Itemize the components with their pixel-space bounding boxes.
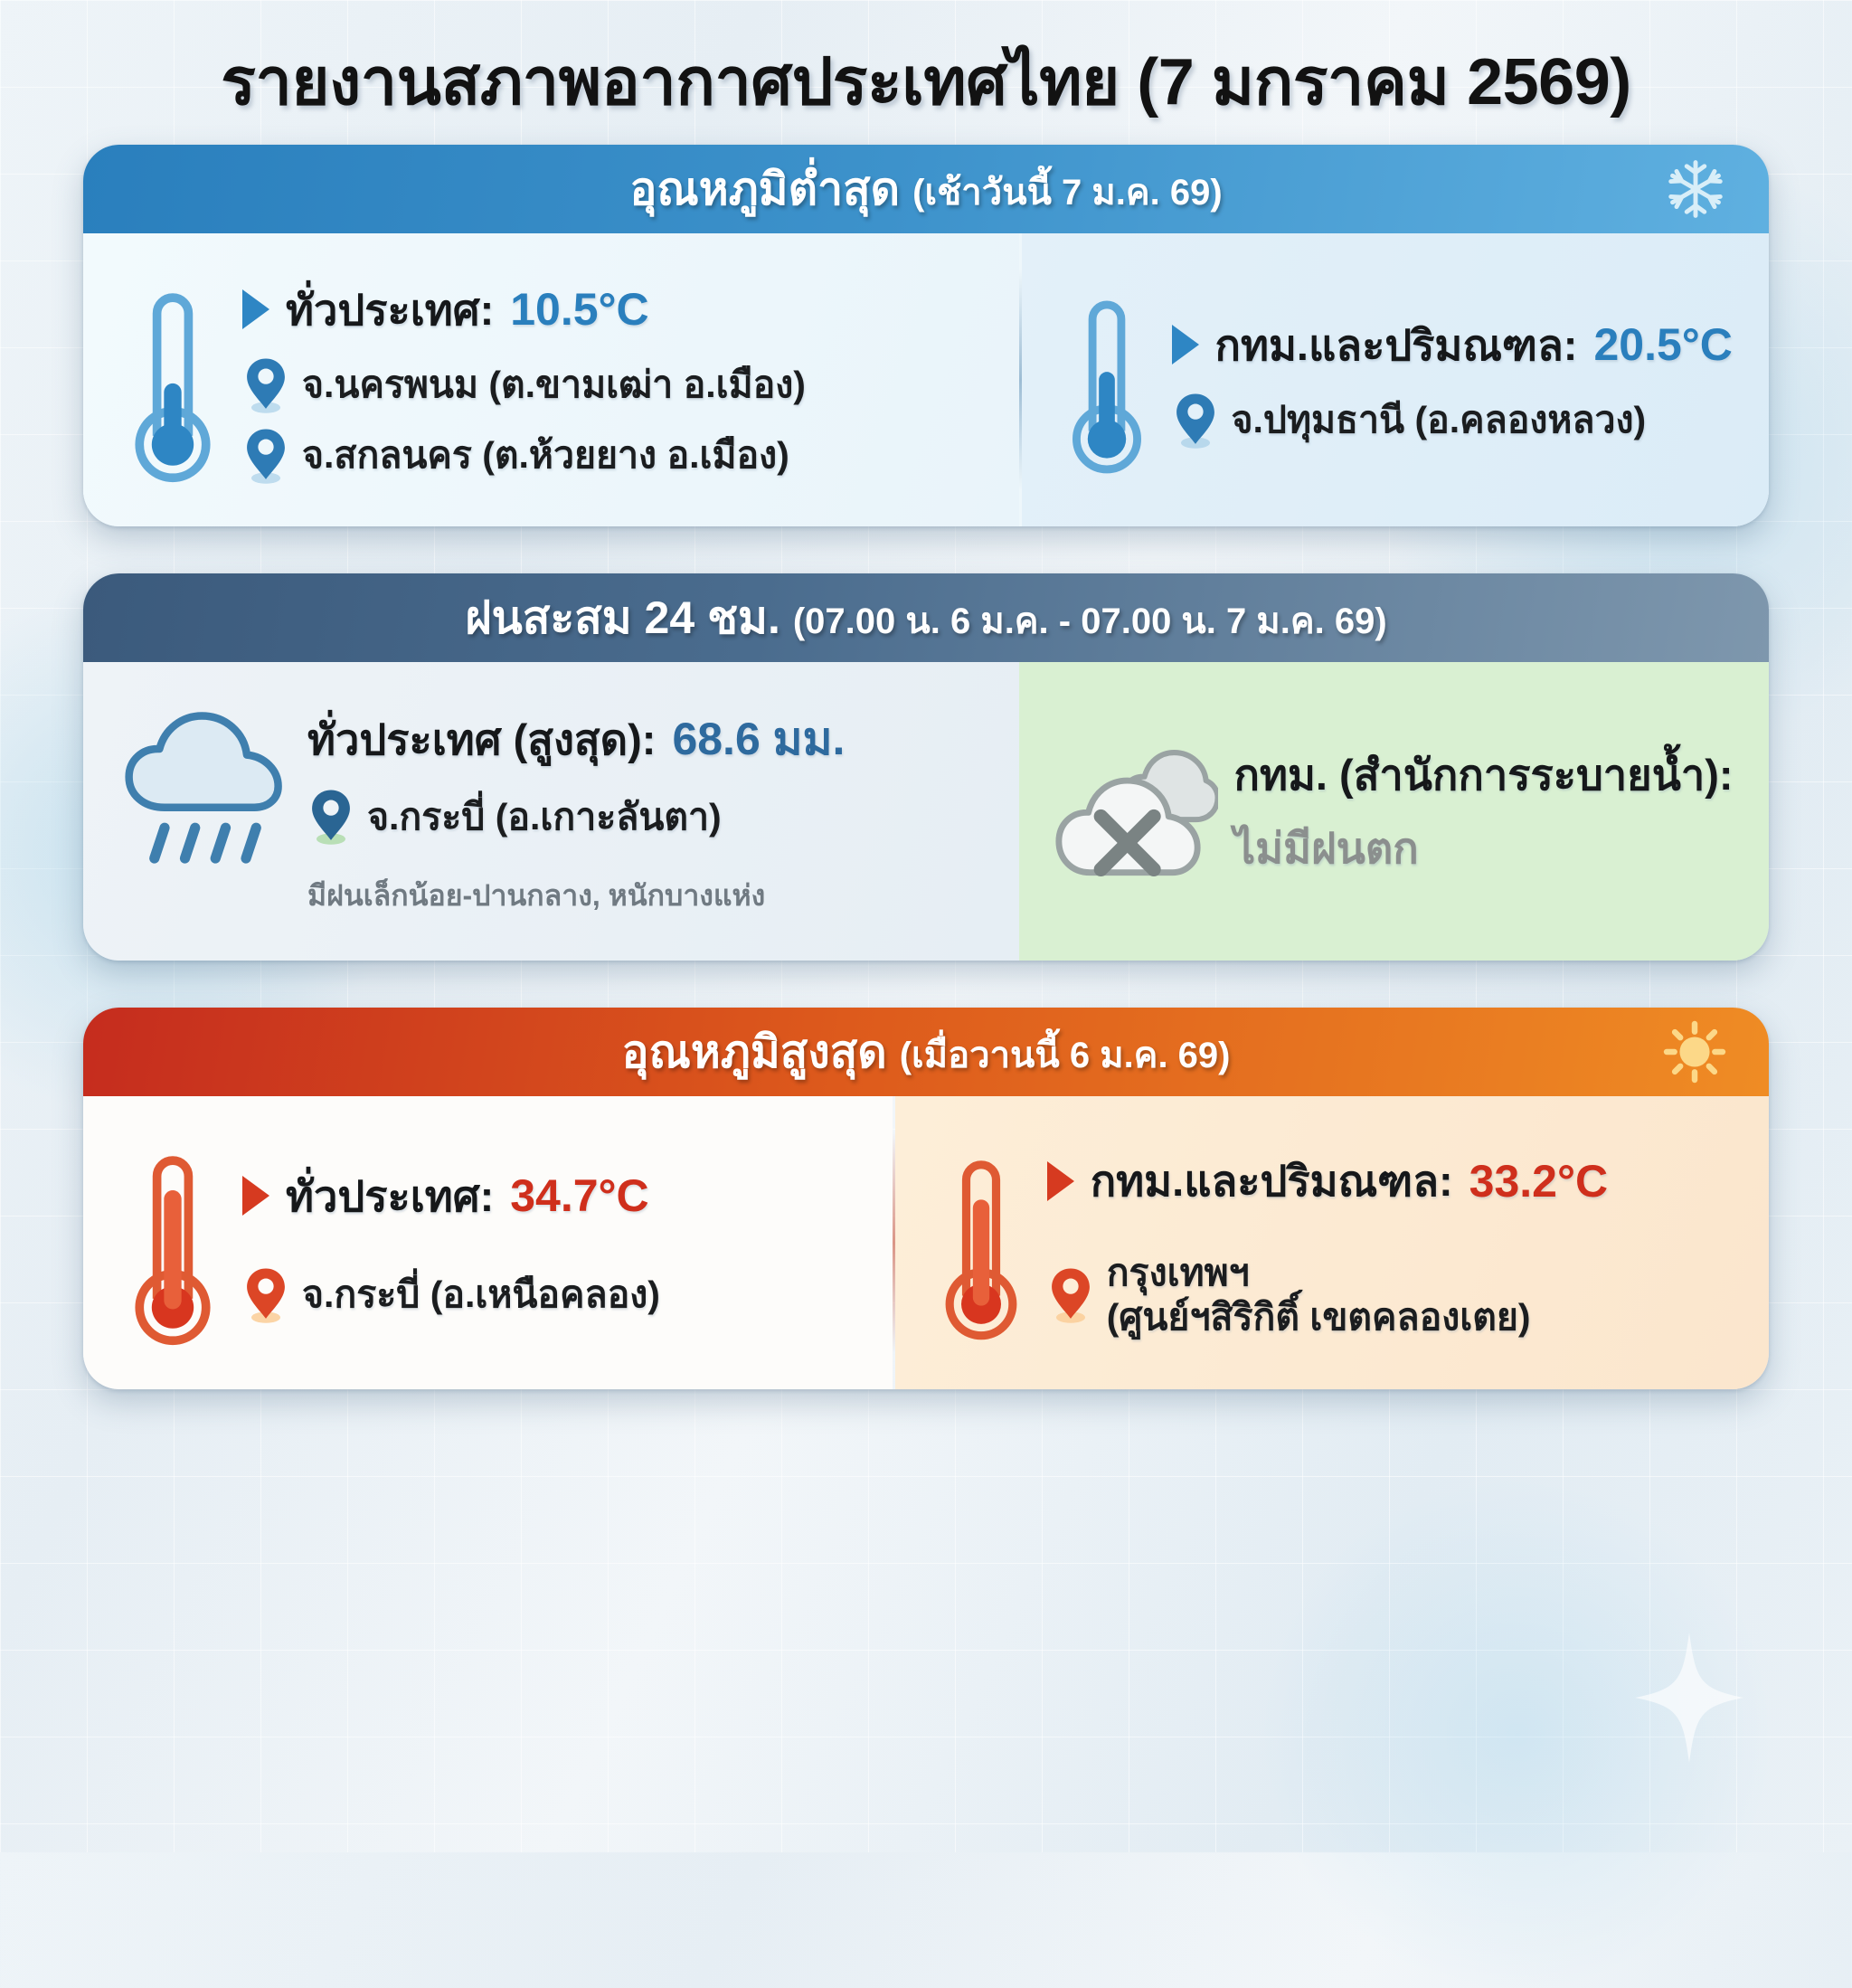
infographic-page: รายงานสภาพอากาศประเทศไทย (7 มกราคม 2569)… <box>0 0 1852 1852</box>
card-rain-header-sub: (07.00 น. 6 ม.ค. - 07.00 น. 7 ม.ค. 69) <box>793 603 1387 639</box>
min-bangkok-location-1-text: จ.ปทุมธานี (อ.คลองหลวง) <box>1232 398 1647 441</box>
rain-cloud-icon <box>119 709 291 872</box>
rain-bangkok-rows: กทม. (สำนักการระบายน้ำ): ไม่มีฝนตก <box>1234 741 1734 882</box>
panel-max-nationwide: ทั่วประเทศ: 34.7°C จ.กระบี่ (อ.เหนือคลอง… <box>83 1096 893 1389</box>
map-pin-icon <box>1047 1266 1094 1324</box>
rain-nationwide-note: มีฝนเล็กน้อย-ปานกลาง, หนักบางแห่ง <box>307 873 845 919</box>
snowflake-icon <box>1664 157 1727 221</box>
min-bangkok-value: 20.5°C <box>1593 318 1732 371</box>
max-bangkok-location-1: กรุงเทพฯ (ศูนย์ฯสิริกิติ์ เขตคลองเตย) <box>1047 1251 1608 1339</box>
map-pin-icon <box>242 427 289 485</box>
max-bangkok-label: กทม.และปริมณฑล: <box>1091 1147 1453 1215</box>
max-nationwide-value: 34.7°C <box>510 1169 648 1222</box>
max-nationwide-rows: ทั่วประเทศ: 34.7°C จ.กระบี่ (อ.เหนือคลอง… <box>242 1162 660 1324</box>
thermometer-hot-icon <box>931 1143 1031 1342</box>
rain-nationwide-location-1-text: จ.กระบี่ (อ.เกาะลันตา) <box>367 795 722 838</box>
card-rain-accumulation: ฝนสะสม 24 ชม. (07.00 น. 6 ม.ค. - 07.00 น… <box>83 573 1769 961</box>
min-nationwide-location-1-text: จ.นครพนม (ต.ขามเฒ่า อ.เมือง) <box>302 363 806 406</box>
max-nationwide-label: ทั่วประเทศ: <box>286 1162 494 1230</box>
min-nationwide-location-1: จ.นครพนม (ต.ขามเฒ่า อ.เมือง) <box>242 356 806 414</box>
page-title: รายงานสภาพอากาศประเทศไทย (7 มกราคม 2569) <box>83 0 1769 123</box>
card-min-header: อุณหภูมิต่ำสุด (เช้าวันนี้ 7 ม.ค. 69) <box>83 145 1769 233</box>
card-max-header-main: อุณหภูมิสูงสุด <box>622 1029 887 1074</box>
card-rain-header: ฝนสะสม 24 ชม. (07.00 น. 6 ม.ค. - 07.00 น… <box>83 573 1769 662</box>
triangle-left-icon <box>242 1176 269 1216</box>
map-pin-icon <box>1172 392 1219 450</box>
max-bangkok-location-2-text: (ศูนย์ฯสิริกิติ์ เขตคลองเตย) <box>1107 1295 1531 1339</box>
card-max-temperature: อุณหภูมิสูงสุด (เมื่อวานนี้ 6 ม.ค. 69) <box>83 1008 1769 1389</box>
thermometer-cold-icon <box>119 275 226 485</box>
card-max-header: อุณหภูมิสูงสุด (เมื่อวานนี้ 6 ม.ค. 69) <box>83 1008 1769 1096</box>
map-pin-icon <box>242 356 289 414</box>
panel-max-bangkok: กทม.และปริมณฑล: 33.2°C กรุงเทพฯ (ศูนย์ฯส… <box>895 1096 1769 1389</box>
card-max-header-sub: (เมื่อวานนี้ 6 ม.ค. 69) <box>900 1037 1231 1074</box>
rain-nationwide-rows: ทั่วประเทศ (สูงสุด): 68.6 มม. จ.กระบี่ (… <box>307 704 845 919</box>
panel-rain-nationwide: ทั่วประเทศ (สูงสุด): 68.6 มม. จ.กระบี่ (… <box>83 662 1019 961</box>
card-max-body: ทั่วประเทศ: 34.7°C จ.กระบี่ (อ.เหนือคลอง… <box>83 1096 1769 1389</box>
min-bangkok-main: กทม.และปริมณฑล: 20.5°C <box>1172 311 1733 379</box>
rain-bangkok-value: ไม่มีฝนตก <box>1234 814 1734 882</box>
card-min-header-sub: (เช้าวันนี้ 7 ม.ค. 69) <box>912 175 1223 211</box>
min-nationwide-location-2-text: จ.สกลนคร (ต.ห้วยยาง อ.เมือง) <box>302 433 789 477</box>
max-bangkok-value: 33.2°C <box>1469 1155 1608 1207</box>
min-bangkok-rows: กทม.และปริมณฑล: 20.5°C จ.ปทุมธานี (อ.คลอ… <box>1172 311 1733 450</box>
max-nationwide-location-1: จ.กระบี่ (อ.เหนือคลอง) <box>242 1266 660 1324</box>
card-max-header-text: อุณหภูมิสูงสุด (เมื่อวานนี้ 6 ม.ค. 69) <box>622 1029 1231 1074</box>
thermometer-hot-icon <box>119 1138 226 1348</box>
rain-nationwide-location-1: จ.กระบี่ (อ.เกาะลันตา) <box>307 788 845 846</box>
triangle-left-icon <box>242 289 269 329</box>
card-min-header-text: อุณหภูมิต่ำสุด (เช้าวันนี้ 7 ม.ค. 69) <box>629 166 1222 212</box>
card-min-body: ทั่วประเทศ: 10.5°C จ.นครพนม (ต.ขามเฒ่า อ… <box>83 233 1769 526</box>
min-bangkok-location-1: จ.ปทุมธานี (อ.คลองหลวง) <box>1172 392 1733 450</box>
max-bangkok-location-1-text: กรุงเทพฯ <box>1107 1251 1531 1294</box>
rain-nationwide-value: 68.6 มม. <box>672 704 845 775</box>
panel-min-nationwide: ทั่วประเทศ: 10.5°C จ.นครพนม (ต.ขามเฒ่า อ… <box>83 233 1019 526</box>
max-bangkok-main: กทม.และปริมณฑล: 33.2°C <box>1047 1147 1608 1215</box>
thermometer-cold-icon <box>1058 284 1156 476</box>
min-nationwide-location-2: จ.สกลนคร (ต.ห้วยยาง อ.เมือง) <box>242 427 806 485</box>
triangle-left-icon <box>1172 325 1199 364</box>
no-rain-cloud-icon <box>1055 742 1218 882</box>
rain-bangkok-label: กทม. (สำนักการระบายน้ำ): <box>1234 741 1734 809</box>
max-nationwide-location-1-text: จ.กระบี่ (อ.เหนือคลอง) <box>302 1273 660 1316</box>
sun-icon <box>1662 1019 1727 1084</box>
map-pin-icon <box>242 1266 289 1324</box>
min-nationwide-value: 10.5°C <box>510 283 648 336</box>
triangle-left-icon <box>1047 1161 1074 1201</box>
card-rain-body: ทั่วประเทศ (สูงสุด): 68.6 มม. จ.กระบี่ (… <box>83 662 1769 961</box>
rain-nationwide-main: ทั่วประเทศ (สูงสุด): 68.6 มม. <box>307 704 845 775</box>
panel-min-bangkok: กทม.และปริมณฑล: 20.5°C จ.ปทุมธานี (อ.คลอ… <box>1022 233 1769 526</box>
min-nationwide-rows: ทั่วประเทศ: 10.5°C จ.นครพนม (ต.ขามเฒ่า อ… <box>242 276 806 485</box>
card-rain-header-main: ฝนสะสม 24 ชม. <box>465 595 780 640</box>
max-bangkok-rows: กทม.และปริมณฑล: 33.2°C กรุงเทพฯ (ศูนย์ฯส… <box>1047 1147 1608 1339</box>
map-pin-icon <box>307 788 354 846</box>
card-rain-header-text: ฝนสะสม 24 ชม. (07.00 น. 6 ม.ค. - 07.00 น… <box>465 595 1386 640</box>
rain-nationwide-label: ทั่วประเทศ (สูงสุด): <box>307 705 656 773</box>
min-bangkok-label: กทม.และปริมณฑล: <box>1215 311 1578 379</box>
max-nationwide-main: ทั่วประเทศ: 34.7°C <box>242 1162 660 1230</box>
min-nationwide-label: ทั่วประเทศ: <box>286 276 494 344</box>
panel-rain-bangkok: กทม. (สำนักการระบายน้ำ): ไม่มีฝนตก <box>1019 662 1769 961</box>
min-nationwide-main: ทั่วประเทศ: 10.5°C <box>242 276 806 344</box>
card-min-temperature: อุณหภูมิต่ำสุด (เช้าวันนี้ 7 ม.ค. 69) <box>83 145 1769 526</box>
card-min-header-main: อุณหภูมิต่ำสุด <box>629 166 900 212</box>
